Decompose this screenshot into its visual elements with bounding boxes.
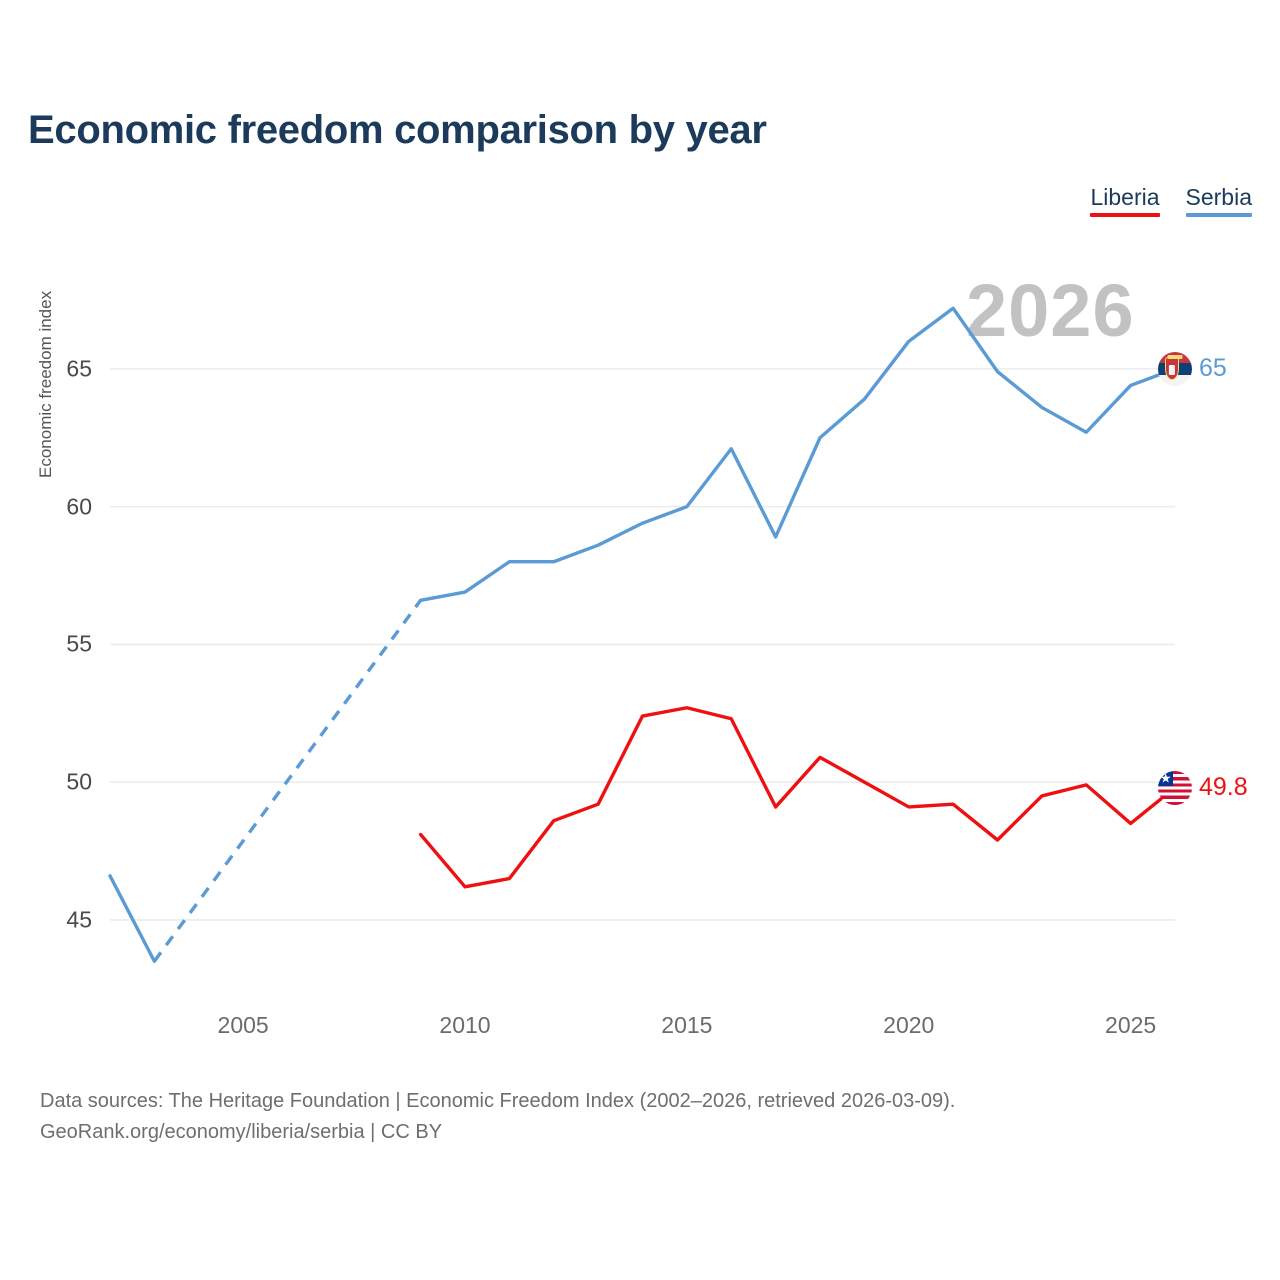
footer-line-2: GeoRank.org/economy/liberia/serbia | CC … <box>40 1117 955 1148</box>
x-tick-2015: 2015 <box>661 1012 712 1039</box>
endpoint-value-serbia: 65 <box>1199 356 1227 381</box>
endpoint-serbia[interactable]: 65 <box>1158 352 1227 386</box>
y-tick-45: 45 <box>32 906 92 933</box>
x-tick-2010: 2010 <box>439 1012 490 1039</box>
y-tick-60: 60 <box>32 493 92 520</box>
x-tick-2005: 2005 <box>218 1012 269 1039</box>
endpoint-liberia[interactable]: ★ 49.8 <box>1158 771 1248 805</box>
x-tick-2020: 2020 <box>883 1012 934 1039</box>
y-tick-55: 55 <box>32 631 92 658</box>
endpoint-value-liberia: 49.8 <box>1199 775 1248 800</box>
chart-page: Economic freedom comparison by year Libe… <box>0 0 1280 1280</box>
x-tick-2025: 2025 <box>1105 1012 1156 1039</box>
serbia-flag-icon <box>1158 352 1192 386</box>
y-tick-65: 65 <box>32 355 92 382</box>
y-tick-50: 50 <box>32 769 92 796</box>
liberia-flag-icon: ★ <box>1158 771 1192 805</box>
footer-line-1: Data sources: The Heritage Foundation | … <box>40 1086 955 1117</box>
footer-attribution: Data sources: The Heritage Foundation | … <box>40 1086 955 1148</box>
